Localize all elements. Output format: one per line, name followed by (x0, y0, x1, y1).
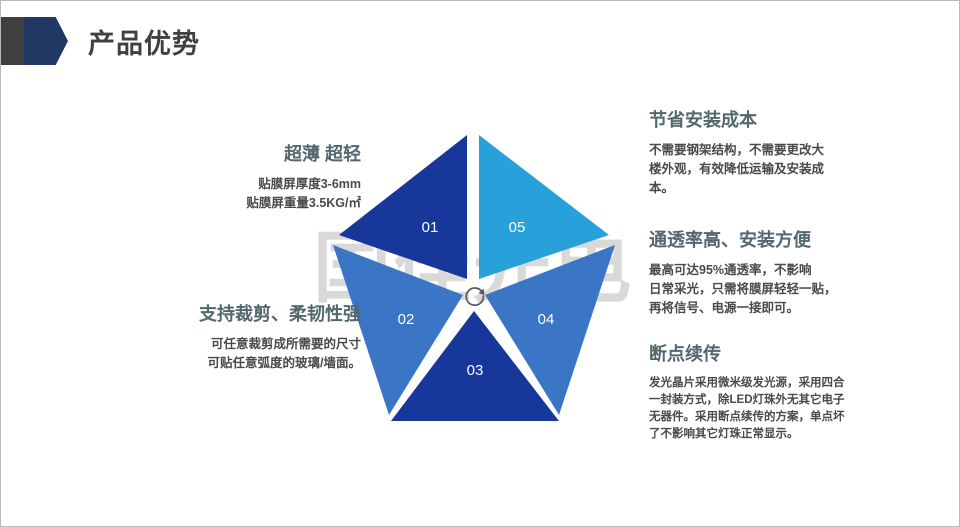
feature-heading: 超薄 超轻 (61, 143, 361, 166)
feature-line: 一封装方式，除LED灯珠外无其它电子 (649, 392, 949, 409)
feature-line: 不需要钢架结构，不需要更改大 (649, 141, 949, 160)
feature-line: 贴膜屏厚度3-6mm (61, 175, 361, 194)
feature-line: 本。 (649, 179, 949, 198)
diagram-label-01: 01 (422, 219, 439, 236)
feature-block-ultra-thin: 超薄 超轻 贴膜屏厚度3-6mm 贴膜屏重量3.5KG/㎡ (61, 143, 361, 213)
feature-line: 最高可达95%通透率，不影响 (649, 261, 949, 280)
feature-heading: 支持裁剪、柔韧性强 (61, 303, 361, 326)
feature-line: 了不影响其它灯珠正常显示。 (649, 426, 949, 443)
diagram-label-05: 05 (509, 219, 526, 236)
feature-heading: 通透率高、安装方便 (649, 229, 949, 252)
feature-block-breakpoint-resume: 断点续传 发光晶片采用微米级发光源，采用四合 一封装方式，除LED灯珠外无其它电… (649, 343, 949, 444)
feature-block-install-cost: 节省安装成本 不需要钢架结构，不需要更改大 楼外观，有效降低运输及安装成 本。 (649, 109, 949, 199)
feature-line: 无器件。采用断点续传的方案，单点坏 (649, 409, 949, 426)
feature-line: 可贴任意弧度的玻璃/墙面。 (61, 354, 361, 373)
feature-line: 可任意裁剪成所需要的尺寸 (61, 335, 361, 354)
feature-block-transparency: 通透率高、安装方便 最高可达95%通透率，不影响 日常采光，只需将膜屏轻轻一贴，… (649, 229, 949, 319)
feature-line: 贴膜屏重量3.5KG/㎡ (61, 194, 361, 213)
feature-line: 楼外观，有效降低运输及安装成 (649, 160, 949, 179)
slide-title-banner: 产品优势 (1, 17, 200, 65)
title-gray-block (1, 17, 24, 65)
feature-heading: 节省安装成本 (649, 109, 949, 132)
title-pennant-shape (24, 17, 68, 65)
page-title: 产品优势 (88, 22, 200, 61)
slide-canvas: 产品优势 国佳光电 01 05 02 04 03 超薄 超 (0, 0, 960, 527)
feature-block-cuttable: 支持裁剪、柔韧性强 可任意裁剪成所需要的尺寸 可贴任意弧度的玻璃/墙面。 (61, 303, 361, 373)
feature-line: 日常采光，只需将膜屏轻轻一贴， (649, 280, 949, 299)
refresh-circle-icon[interactable] (462, 283, 488, 309)
pinwheel-diagram: 01 05 02 04 03 (319, 127, 631, 427)
feature-line: 再将信号、电源一接即可。 (649, 299, 949, 318)
feature-heading: 断点续传 (649, 343, 949, 366)
diagram-label-04: 04 (538, 311, 555, 328)
diagram-label-02: 02 (398, 311, 415, 328)
feature-line: 发光晶片采用微米级发光源，采用四合 (649, 375, 949, 392)
diagram-label-03: 03 (467, 362, 484, 379)
